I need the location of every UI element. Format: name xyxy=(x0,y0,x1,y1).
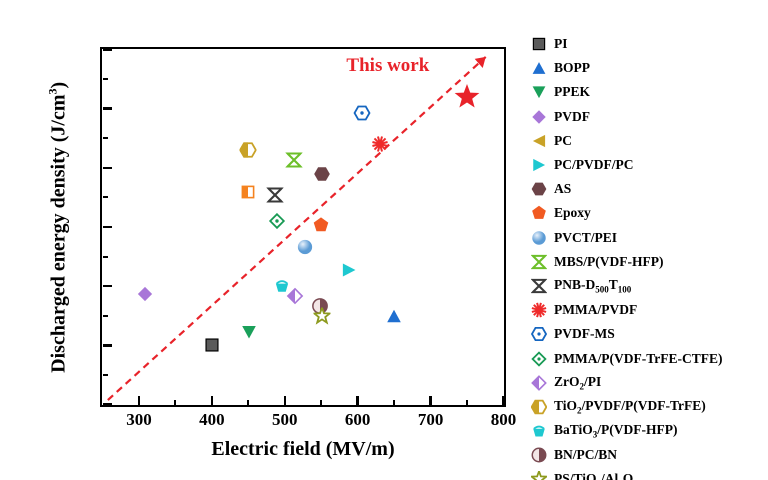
data-point xyxy=(454,84,480,110)
marker-pentagon xyxy=(531,205,547,221)
data-point xyxy=(240,142,257,159)
marker-bowtie-x xyxy=(531,254,547,270)
marker-bowtie-x xyxy=(531,278,547,294)
legend-marker xyxy=(524,471,554,480)
marker-square-half xyxy=(240,183,257,200)
legend-marker xyxy=(524,36,554,52)
marker-hex-dot xyxy=(354,104,371,121)
marker-hex-half xyxy=(531,399,547,415)
marker-asterisk xyxy=(372,136,389,153)
tick-mark xyxy=(103,107,112,110)
marker-cup xyxy=(531,423,547,439)
marker-triangle-up xyxy=(531,60,547,76)
tick-mark xyxy=(247,400,249,405)
marker-hex-half xyxy=(240,142,257,159)
tick-mark xyxy=(103,403,112,406)
marker-cup xyxy=(273,278,290,295)
x-tick-label: 500 xyxy=(250,410,320,430)
legend-label: PVDF xyxy=(554,109,590,125)
tick-mark xyxy=(103,374,108,376)
tick-mark xyxy=(393,400,395,405)
marker-triangle-right xyxy=(340,262,357,279)
marker-star5 xyxy=(454,84,480,110)
legend-item[interactable]: MBS/P(VDF-HFP) xyxy=(524,250,768,274)
marker-hexagon xyxy=(531,181,547,197)
data-point xyxy=(313,307,330,324)
marker-hex-dot xyxy=(531,326,547,342)
legend-label: ZrO2/PI xyxy=(554,374,601,392)
data-point xyxy=(354,104,371,121)
data-point xyxy=(313,217,330,234)
data-point xyxy=(240,183,257,200)
annotation-this-work: This work xyxy=(346,55,429,77)
data-point xyxy=(273,278,290,295)
legend-item[interactable]: PMMA/PVDF xyxy=(524,298,768,322)
legend-marker xyxy=(524,60,554,76)
x-tick-label: 700 xyxy=(396,410,466,430)
legend-marker xyxy=(524,181,554,197)
legend-marker xyxy=(524,447,554,463)
legend-item[interactable]: BaTiO3/P(VDF-HFP) xyxy=(524,419,768,443)
tick-mark xyxy=(174,400,176,405)
marker-pentagon xyxy=(313,217,330,234)
tick-mark xyxy=(103,48,112,51)
legend-label: PVDF-MS xyxy=(554,326,615,342)
trendline xyxy=(102,49,504,405)
legend-marker xyxy=(524,399,554,415)
legend-item[interactable]: PPEK xyxy=(524,80,768,104)
legend-label: BN/PC/BN xyxy=(554,447,617,463)
legend-label: BOPP xyxy=(554,60,590,76)
legend-label: PNB-D500T100 xyxy=(554,277,631,295)
legend-item[interactable]: BOPP xyxy=(524,56,768,80)
marker-diamond xyxy=(531,109,547,125)
legend-marker xyxy=(524,230,554,246)
legend-label: PI xyxy=(554,36,568,52)
marker-hexagon xyxy=(313,165,330,182)
data-point xyxy=(372,136,389,153)
data-point xyxy=(203,337,220,354)
figure-root: Discharged energy density (J/cm3) Electr… xyxy=(0,0,768,480)
marker-sphere xyxy=(531,230,547,246)
legend-item[interactable]: TiO2/PVDF/P(VDF-TrFE) xyxy=(524,395,768,419)
legend-item[interactable]: ZrO2/PI xyxy=(524,371,768,395)
legend-item[interactable]: BN/PC/BN xyxy=(524,443,768,467)
tick-mark xyxy=(284,396,287,405)
data-point xyxy=(313,165,330,182)
legend-label: AS xyxy=(554,181,571,197)
legend-label: MBS/P(VDF-HFP) xyxy=(554,254,663,270)
legend-marker xyxy=(524,351,554,367)
legend: PIBOPPPPEKPVDFPCPC/PVDF/PCASEpoxyPVCT/PE… xyxy=(524,32,768,480)
marker-diamond-half xyxy=(531,375,547,391)
legend-item[interactable]: PVDF-MS xyxy=(524,322,768,346)
tick-mark xyxy=(103,315,108,317)
legend-marker xyxy=(524,278,554,294)
marker-star5-open xyxy=(313,307,330,324)
marker-bowtie-x xyxy=(267,187,284,204)
legend-label: PVCT/PEI xyxy=(554,230,617,246)
tick-mark xyxy=(356,396,359,405)
legend-item[interactable]: PVCT/PEI xyxy=(524,226,768,250)
data-point xyxy=(241,323,258,340)
marker-bowtie-x xyxy=(285,151,302,168)
tick-mark xyxy=(103,285,112,288)
y-axis-label: Discharged energy density (J/cm3) xyxy=(46,27,71,427)
marker-diamond-dot xyxy=(269,213,286,230)
tick-mark xyxy=(502,396,505,405)
marker-triangle-left xyxy=(531,133,547,149)
legend-label: BaTiO3/P(VDF-HFP) xyxy=(554,422,678,440)
x-tick-label: 300 xyxy=(104,410,174,430)
data-point xyxy=(267,187,284,204)
x-tick-label: 400 xyxy=(177,410,247,430)
legend-label: PS/TiO2/Al2O3 xyxy=(554,471,638,480)
legend-label: Epoxy xyxy=(554,205,591,221)
legend-marker xyxy=(524,84,554,100)
data-point xyxy=(297,238,314,255)
legend-item[interactable]: PC xyxy=(524,129,768,153)
tick-mark xyxy=(103,78,108,80)
legend-item[interactable]: PC/PVDF/PC xyxy=(524,153,768,177)
tick-mark xyxy=(103,344,112,347)
legend-marker xyxy=(524,326,554,342)
legend-item[interactable]: PVDF xyxy=(524,105,768,129)
legend-marker xyxy=(524,205,554,221)
legend-label: PC/PVDF/PC xyxy=(554,157,633,173)
plot-frame xyxy=(100,47,506,407)
marker-square xyxy=(203,337,220,354)
marker-triangle-down xyxy=(241,323,258,340)
legend-marker xyxy=(524,157,554,173)
legend-marker xyxy=(524,423,554,439)
x-axis-label: Electric field (MV/m) xyxy=(100,438,506,461)
legend-marker xyxy=(524,302,554,318)
legend-marker xyxy=(524,375,554,391)
data-point xyxy=(285,151,302,168)
data-point xyxy=(269,213,286,230)
marker-diamond-dot xyxy=(531,351,547,367)
tick-mark xyxy=(466,400,468,405)
data-point xyxy=(136,286,153,303)
legend-item[interactable]: Epoxy xyxy=(524,201,768,225)
marker-circle-half xyxy=(531,447,547,463)
legend-label: PC xyxy=(554,133,572,149)
tick-mark xyxy=(320,400,322,405)
x-tick-label: 600 xyxy=(323,410,393,430)
data-point xyxy=(386,307,403,324)
marker-sphere xyxy=(297,238,314,255)
legend-marker xyxy=(524,133,554,149)
marker-diamond xyxy=(136,286,153,303)
tick-mark xyxy=(103,256,108,258)
marker-triangle-right xyxy=(531,157,547,173)
marker-star5-open xyxy=(531,471,547,480)
tick-mark xyxy=(211,396,214,405)
tick-mark xyxy=(103,226,112,229)
marker-asterisk xyxy=(531,302,547,318)
legend-item[interactable]: PMMA/P(VDF-TrFE-CTFE) xyxy=(524,346,768,370)
legend-item[interactable]: PS/TiO2/Al2O3 xyxy=(524,467,768,480)
legend-item[interactable]: PI xyxy=(524,32,768,56)
legend-marker xyxy=(524,109,554,125)
tick-mark xyxy=(103,167,112,170)
marker-triangle-down xyxy=(531,84,547,100)
marker-square xyxy=(531,36,547,52)
legend-item[interactable]: PNB-D500T100 xyxy=(524,274,768,298)
tick-mark xyxy=(103,137,108,139)
plot-area: Discharged energy density (J/cm3) Electr… xyxy=(0,0,520,480)
tick-mark xyxy=(429,396,432,405)
marker-triangle-up xyxy=(386,307,403,324)
tick-mark xyxy=(103,196,108,198)
legend-label: TiO2/PVDF/P(VDF-TrFE) xyxy=(554,398,706,416)
legend-item[interactable]: AS xyxy=(524,177,768,201)
legend-marker xyxy=(524,254,554,270)
legend-label: PMMA/PVDF xyxy=(554,302,637,318)
legend-label: PMMA/P(VDF-TrFE-CTFE) xyxy=(554,351,722,367)
legend-label: PPEK xyxy=(554,84,590,100)
data-point xyxy=(340,262,357,279)
tick-mark xyxy=(138,396,141,405)
